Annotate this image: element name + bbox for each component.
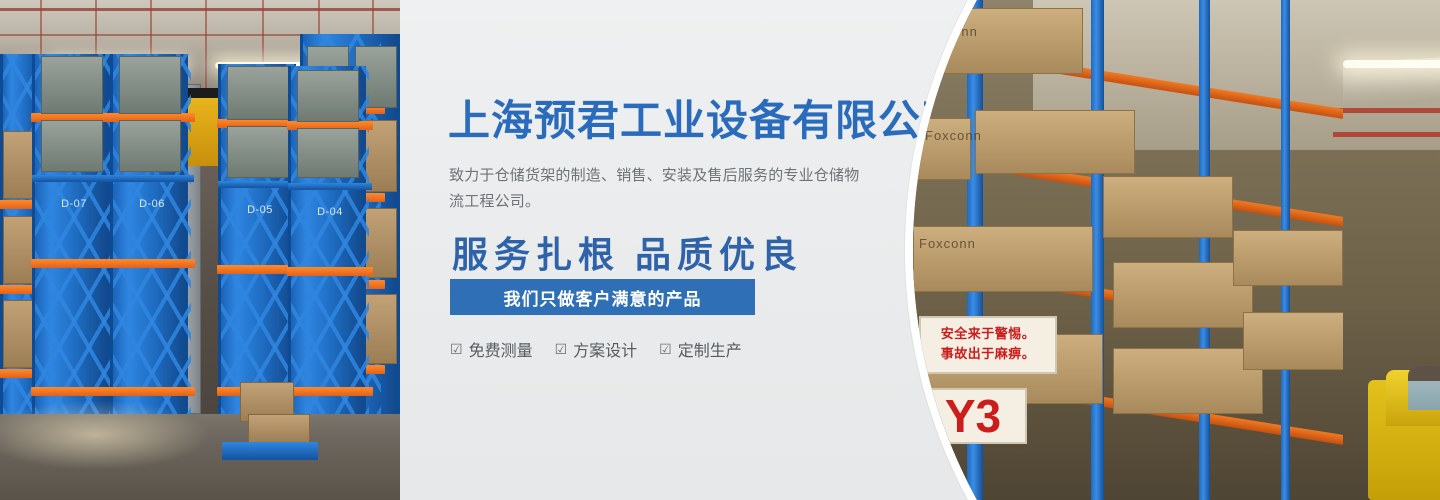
aisle-label-d07: D-07 [35, 198, 113, 210]
slogan-text: 服务扎根 品质优良 [452, 226, 803, 278]
feature-label: 免费测量 [469, 337, 533, 361]
carton-brand-text: Foxconn [919, 236, 976, 251]
left-photo-scene: D-07 D-06 D-05 [0, 0, 400, 500]
rack-bay-d07: D-07 [32, 54, 110, 414]
company-subtitle: 致力于仓储货架的制造、销售、安装及售后服务的专业仓储物流工程公司。 [449, 163, 864, 215]
aisle-label-d06: D-06 [113, 198, 191, 210]
left-warehouse-photo: D-07 D-06 D-05 [0, 0, 400, 500]
reach-forklift [1368, 200, 1440, 500]
safety-sign-line-1: 安全来于警惕。 [925, 324, 1051, 344]
right-photo-scene: Foxconn Foxconn Foxconn [913, 0, 1440, 500]
rack-bay-d04: D-04 [288, 66, 366, 414]
safety-sign-line-2: 事故出于麻痹。 [925, 344, 1051, 364]
blue-pallet [222, 442, 318, 460]
rack-bay-d06: D-06 [110, 54, 188, 414]
carton-brand-text: Foxconn [925, 128, 982, 143]
checkbox-checked-icon: ☑ [555, 342, 568, 356]
feature-item-free-measure: ☑ 免费测量 [450, 337, 533, 361]
carton-brand-text: Foxconn [921, 24, 978, 39]
strip-light [1343, 60, 1440, 68]
feature-list: ☑ 免费测量 ☑ 方案设计 ☑ 定制生产 [450, 337, 742, 361]
forklift-operator [1408, 366, 1440, 410]
aisle-code-sign-left: Y3 [919, 388, 1027, 444]
safety-warning-sign: 安全来于警惕。 事故出于麻痹。 [919, 316, 1057, 374]
floor-light-reflection [0, 400, 210, 470]
right-warehouse-photo: Foxconn Foxconn Foxconn [913, 0, 1440, 500]
checkbox-checked-icon: ☑ [450, 342, 463, 356]
rack-bay-d05: D-05 [218, 64, 296, 414]
hero-banner: D-07 D-06 D-05 [0, 0, 1440, 500]
feature-label: 定制生产 [678, 337, 742, 361]
right-photo-circle: Foxconn Foxconn Foxconn [905, 0, 1440, 500]
feature-item-solution-design: ☑ 方案设计 [555, 337, 638, 361]
checkbox-checked-icon: ☑ [659, 342, 672, 356]
feature-label: 方案设计 [573, 337, 637, 361]
promise-badge: 我们只做客户满意的产品 [450, 279, 755, 315]
company-title: 上海预君工业设备有限公司 [448, 100, 964, 142]
feature-item-custom-production: ☑ 定制生产 [659, 337, 742, 361]
aisle-label-d04: D-04 [291, 206, 369, 218]
hero-content: 上海预君工业设备有限公司 致力于仓储货架的制造、销售、安装及售后服务的专业仓储物… [448, 0, 918, 500]
